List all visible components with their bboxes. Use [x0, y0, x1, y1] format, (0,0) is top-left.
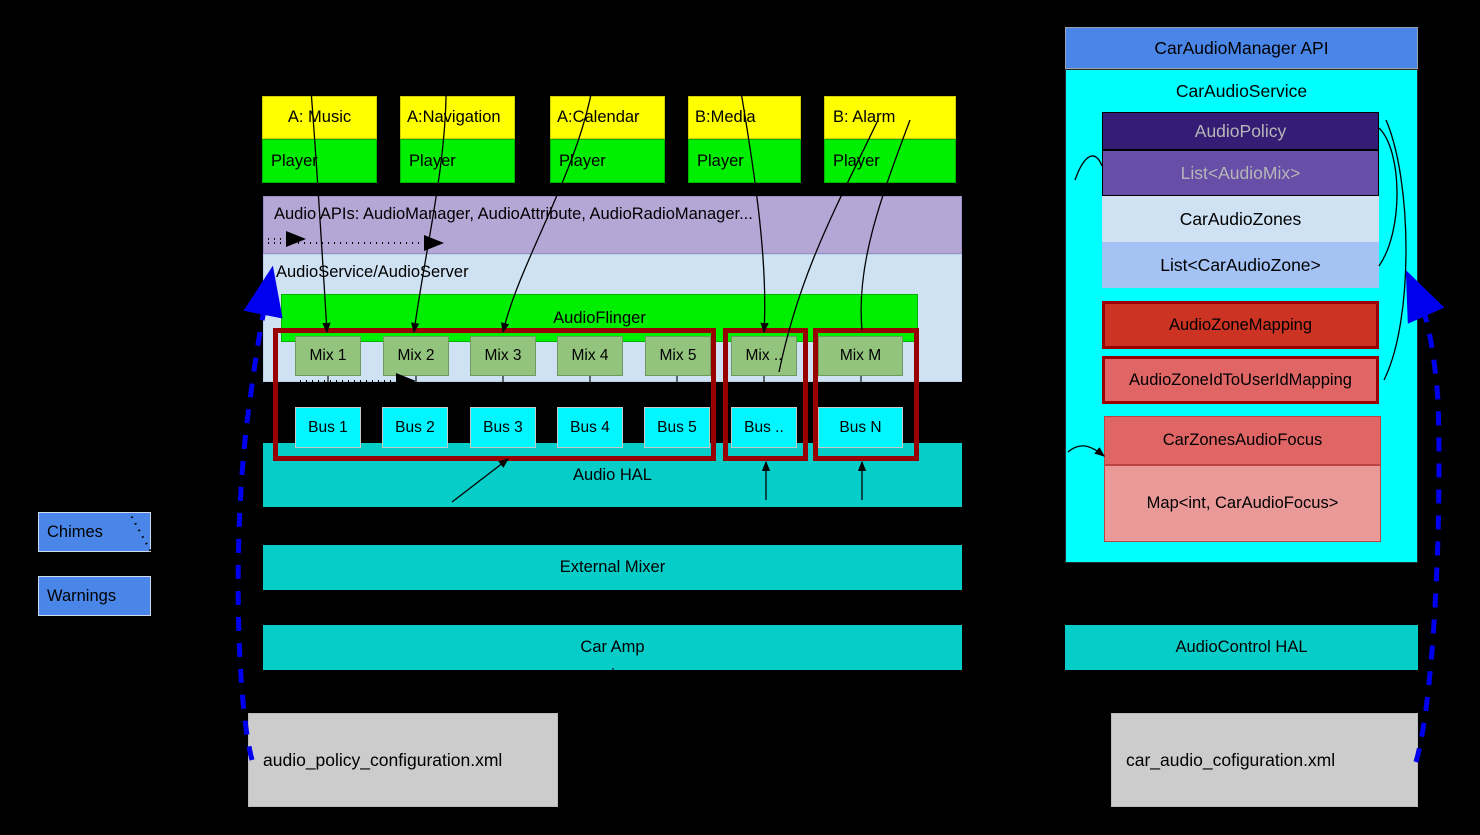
- audio-zone-outline-n: [813, 328, 919, 461]
- config-file-audio-policy: audio_policy_configuration.xml: [248, 713, 558, 807]
- app-box-player-1: Player: [400, 139, 515, 183]
- audio-policy-box: AudioPolicy: [1102, 112, 1379, 150]
- audio-apis-band: Audio APIs: AudioManager, AudioAttribute…: [263, 196, 962, 254]
- app-box-title-0: A: Music: [262, 96, 377, 139]
- app-box-title-3: B:Media: [688, 96, 801, 139]
- config-file-car-audio: car_audio_cofiguration.xml: [1111, 713, 1418, 807]
- source-box-warnings: Warnings: [38, 576, 151, 616]
- audio-zone-outline-secondary: [723, 328, 808, 461]
- external-mixer-band: External Mixer: [263, 545, 962, 590]
- car-audio-zones-box: CarAudioZones: [1102, 196, 1379, 242]
- car-amp-band: Car Amp: [263, 625, 962, 670]
- car-audio-service-title: CarAudioService: [1066, 70, 1417, 112]
- audio-zone-mapping-box: AudioZoneMapping: [1102, 301, 1379, 349]
- audio-control-hal-band: AudioControl HAL: [1065, 625, 1418, 670]
- app-box-player-0: Player: [262, 139, 377, 183]
- car-audio-manager-api-header: CarAudioManager API: [1065, 27, 1418, 69]
- diagram-canvas: A: Music Player A:Navigation Player A:Ca…: [0, 0, 1480, 835]
- app-box-player-4: Player: [824, 139, 956, 183]
- audio-zone-outline-primary: [273, 328, 716, 461]
- car-audio-focus-map-box: Map<int, CarAudioFocus>: [1104, 465, 1381, 542]
- app-box-player-3: Player: [688, 139, 801, 183]
- source-box-chimes: Chimes: [38, 512, 151, 552]
- app-box-title-2: A:Calendar: [550, 96, 665, 139]
- car-audio-zone-list-box: List<CarAudioZone>: [1102, 242, 1379, 288]
- app-box-title-4: B: Alarm: [824, 96, 956, 139]
- app-box-title-1: A:Navigation: [400, 96, 515, 139]
- car-zones-audio-focus-box: CarZonesAudioFocus: [1104, 416, 1381, 465]
- audio-mix-list-box: List<AudioMix>: [1102, 150, 1379, 196]
- app-box-player-2: Player: [550, 139, 665, 183]
- audio-zone-id-to-user-id-mapping-box: AudioZoneIdToUserIdMapping: [1102, 356, 1379, 404]
